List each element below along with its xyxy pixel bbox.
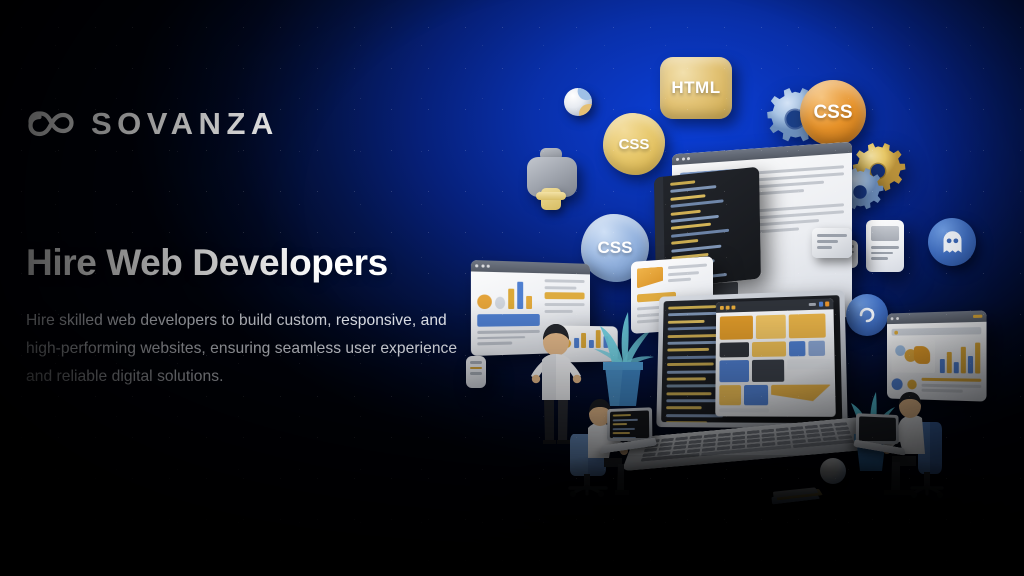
chat-bubble-icon	[812, 228, 852, 258]
window-dot	[896, 317, 899, 320]
illustration-scene: CSS HTML CSS	[0, 0, 1024, 576]
camera-object	[527, 148, 577, 210]
window-dot	[475, 264, 478, 267]
seated-left-laptop	[600, 408, 656, 456]
badge-css-orange: CSS	[800, 80, 866, 146]
badge-label: CSS	[619, 136, 650, 153]
badge-css-yellow: CSS	[603, 113, 665, 175]
badge-label: CSS	[598, 238, 633, 258]
hero-banner: CSS HTML CSS	[0, 0, 1024, 576]
window-dot	[891, 317, 894, 320]
window-dot	[687, 157, 690, 160]
ghost-badge-icon	[928, 218, 976, 266]
window-dot	[487, 265, 490, 268]
brand-name: SOVANZA	[91, 108, 279, 139]
laptop-device	[626, 292, 866, 477]
side-card-left	[466, 356, 486, 388]
infinity-cloud-logo-icon	[26, 104, 78, 142]
page-title: Hire Web Developers	[26, 242, 388, 285]
floor-sphere	[820, 458, 846, 484]
window-dot	[481, 264, 484, 267]
brand-logo[interactable]: SOVANZA	[26, 104, 279, 142]
sphere-ball	[564, 88, 592, 116]
sticky-notes	[771, 487, 832, 508]
window-dot	[676, 158, 679, 161]
badge-label: CSS	[813, 102, 852, 124]
badge-label: HTML	[671, 78, 720, 98]
analytics-window	[887, 310, 987, 401]
badge-html: HTML	[660, 57, 732, 119]
seated-right-laptop	[856, 414, 908, 458]
window-dot	[682, 157, 685, 160]
hero-description: Hire skilled web developers to build cus…	[26, 307, 466, 390]
document-card	[866, 220, 904, 272]
